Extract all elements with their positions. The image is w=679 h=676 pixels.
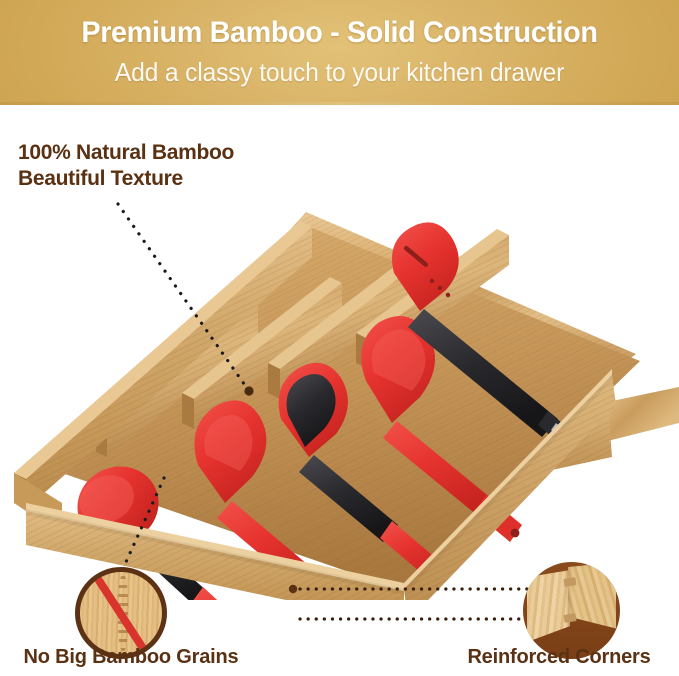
annotation-reinforced-corners: Reinforced Corners: [440, 645, 678, 669]
annotation-natural-bamboo: 100% Natural Bamboo Beautiful Texture: [18, 140, 234, 191]
banner-title: Premium Bamboo - Solid Construction: [14, 16, 666, 50]
banner-subtitle: Add a classy touch to your kitchen drawe…: [17, 57, 662, 88]
front-pin-dot-1: [289, 585, 297, 593]
header-banner: Premium Bamboo - Solid Construction Add …: [0, 0, 679, 105]
corner-joint-notch-bottom: [563, 613, 576, 623]
annotation-no-big-bamboo-grains: No Big Bamboo Grains: [6, 645, 256, 669]
product-image-canvas: Premium Bamboo - Solid Construction Add …: [0, 0, 679, 676]
